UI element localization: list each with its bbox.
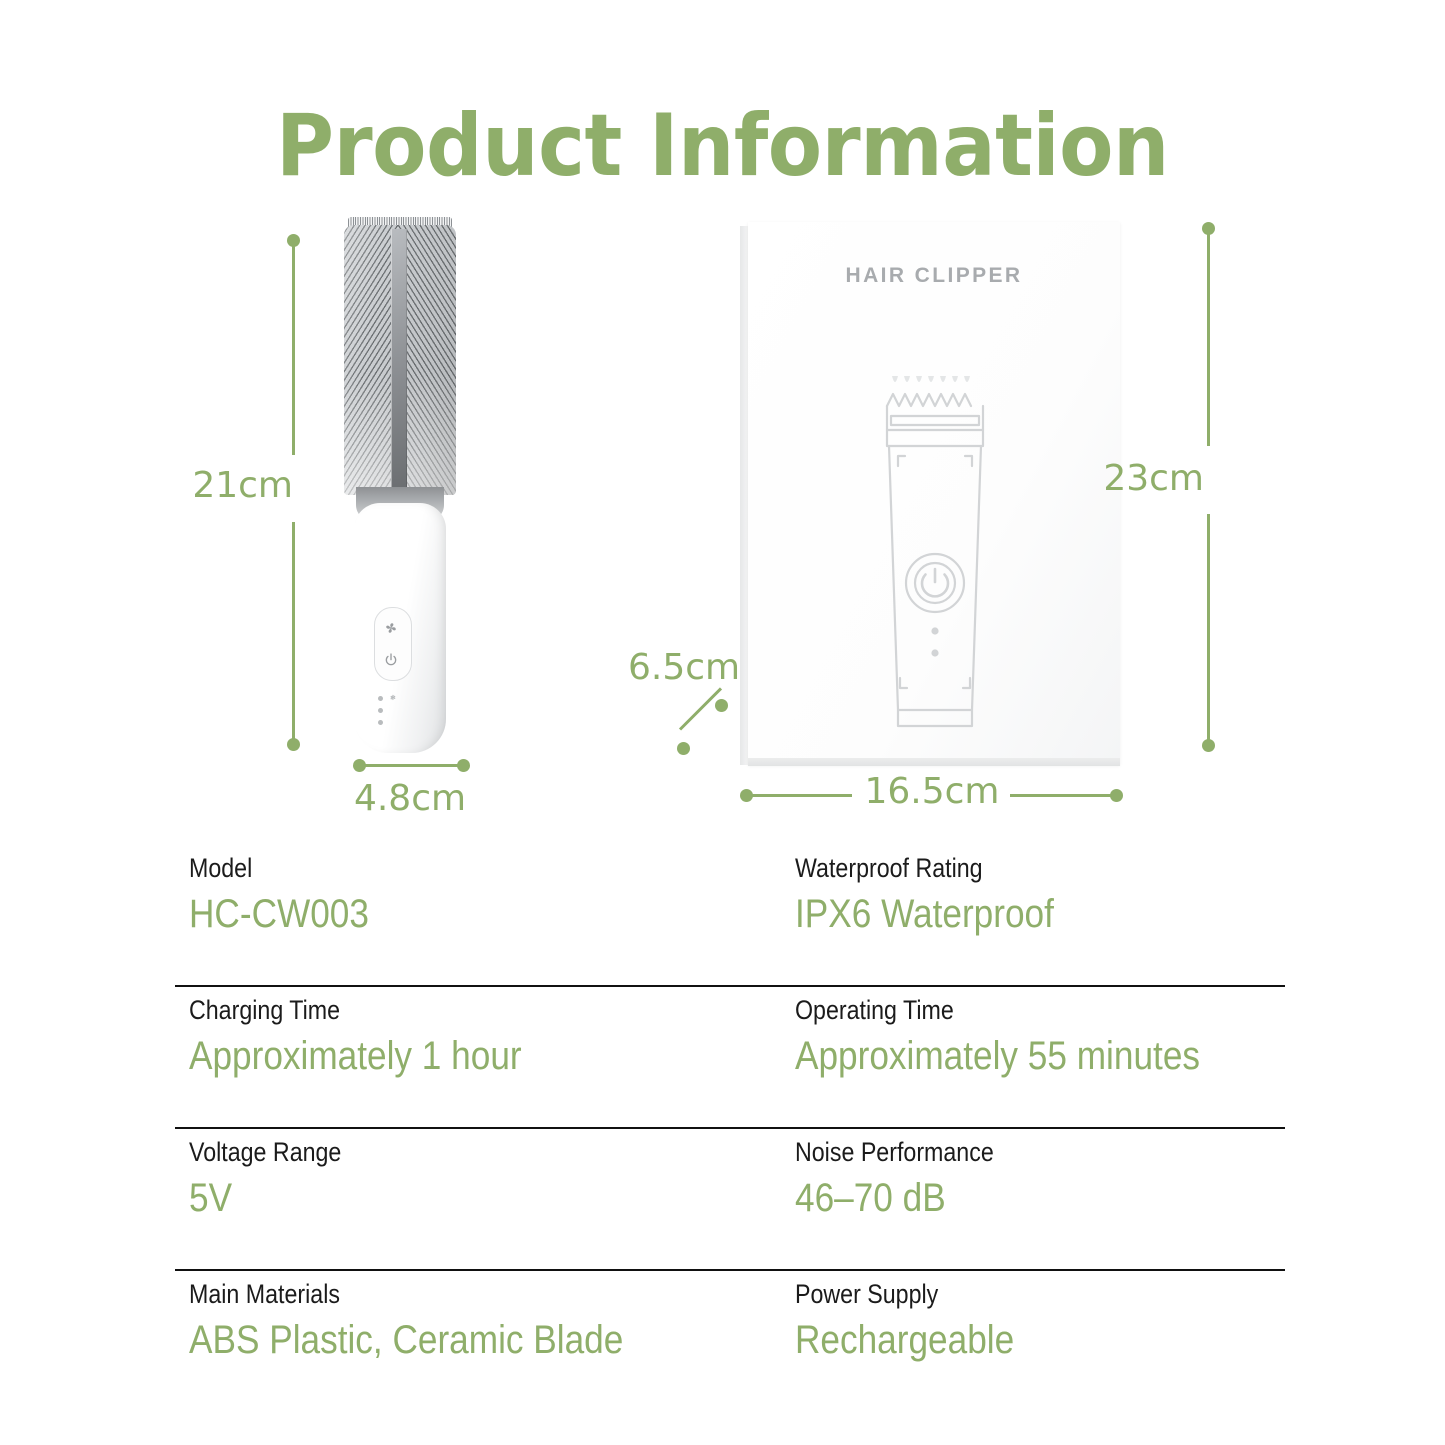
spec-label: Main Materials [189,1277,653,1311]
dim-16-5cm-label: 16.5cm [852,771,1012,812]
spec-label: Model [189,851,653,885]
spec-row: Charging Time Approximately 1 hour Opera… [175,985,1285,1127]
led-indicator-group: ✻ ✦ ⚡ [378,695,412,731]
spec-value: Approximately 55 minutes [795,1031,1270,1081]
dim-21cm-line-upper [292,246,295,455]
dim-4-8cm-line [359,764,463,767]
spec-cell-operating-time: Operating Time Approximately 55 minutes [795,993,1335,1081]
fan-speed-icon [382,619,400,637]
spec-row: Voltage Range 5V Noise Performance 46–70… [175,1127,1285,1269]
dim-16-5cm-right-dot [1110,789,1123,802]
dim-23cm-line-upper [1207,234,1210,446]
dim-23cm-bottom-dot [1202,739,1215,752]
spec-cell-power-supply: Power Supply Rechargeable [795,1277,1335,1365]
led-dot [378,708,383,713]
spec-cell-main-materials: Main Materials ABS Plastic, Ceramic Blad… [189,1277,729,1365]
led-marker-icon: ⚡ [390,695,395,702]
spec-cell-voltage-range: Voltage Range 5V [189,1135,729,1223]
page-title: Product Information [58,96,1387,196]
spec-label: Power Supply [795,1277,1259,1311]
spec-value: Approximately 1 hour [189,1031,664,1081]
product-information-page: Product Information 21cm [0,0,1445,1445]
spec-value: Rechargeable [795,1315,1270,1365]
dim-6-5cm-upper-dot [715,699,728,712]
box-bottom-edge [748,758,1120,766]
spec-label: Waterproof Rating [795,851,1259,885]
dim-21cm-line-lower [292,522,295,741]
spec-label: Noise Performance [795,1135,1259,1169]
product-hero-section: 21cm [0,200,1445,840]
spec-value: ABS Plastic, Ceramic Blade [189,1315,664,1365]
dim-4-8cm-right-dot [457,759,470,772]
spec-cell-model: Model HC-CW003 [189,851,729,939]
led-dot [378,720,383,725]
spec-row: Model HC-CW003 Waterproof Rating IPX6 Wa… [175,845,1285,985]
box-title-text: HAIR CLIPPER [748,264,1120,288]
dim-21cm-label: 21cm [145,465,293,506]
hair-clipper-device: ✻ ✦ ⚡ [340,225,460,750]
clipper-line-art [876,370,994,750]
dim-21cm-bottom-dot [287,738,300,751]
spec-label: Charging Time [189,993,653,1027]
spec-label: Operating Time [795,993,1259,1027]
dim-4-8cm-label: 4.8cm [320,778,500,819]
dim-16-5cm-line-right [1010,794,1114,797]
dim-16-5cm-line-left [748,794,852,797]
spec-value: HC-CW003 [189,889,664,939]
spec-value: 5V [189,1173,664,1223]
spec-cell-noise-performance: Noise Performance 46–70 dB [795,1135,1335,1223]
dim-23cm-line-lower [1207,514,1210,742]
spec-row: Main Materials ABS Plastic, Ceramic Blad… [175,1269,1285,1411]
dim-6-5cm-label: 6.5cm [628,647,748,688]
spec-label: Voltage Range [189,1135,653,1169]
dim-23cm-label: 23cm [1060,458,1204,499]
spec-value: 46–70 dB [795,1173,1270,1223]
power-icon [383,652,399,668]
specifications-table: Model HC-CW003 Waterproof Rating IPX6 Wa… [175,845,1285,1411]
blade-head-shading [344,225,456,495]
spec-cell-charging-time: Charging Time Approximately 1 hour [189,993,729,1081]
spec-value: IPX6 Waterproof [795,889,1270,939]
dim-6-5cm-lower-dot [677,742,690,755]
led-dot [378,696,383,701]
spec-cell-waterproof-rating: Waterproof Rating IPX6 Waterproof [795,851,1335,939]
